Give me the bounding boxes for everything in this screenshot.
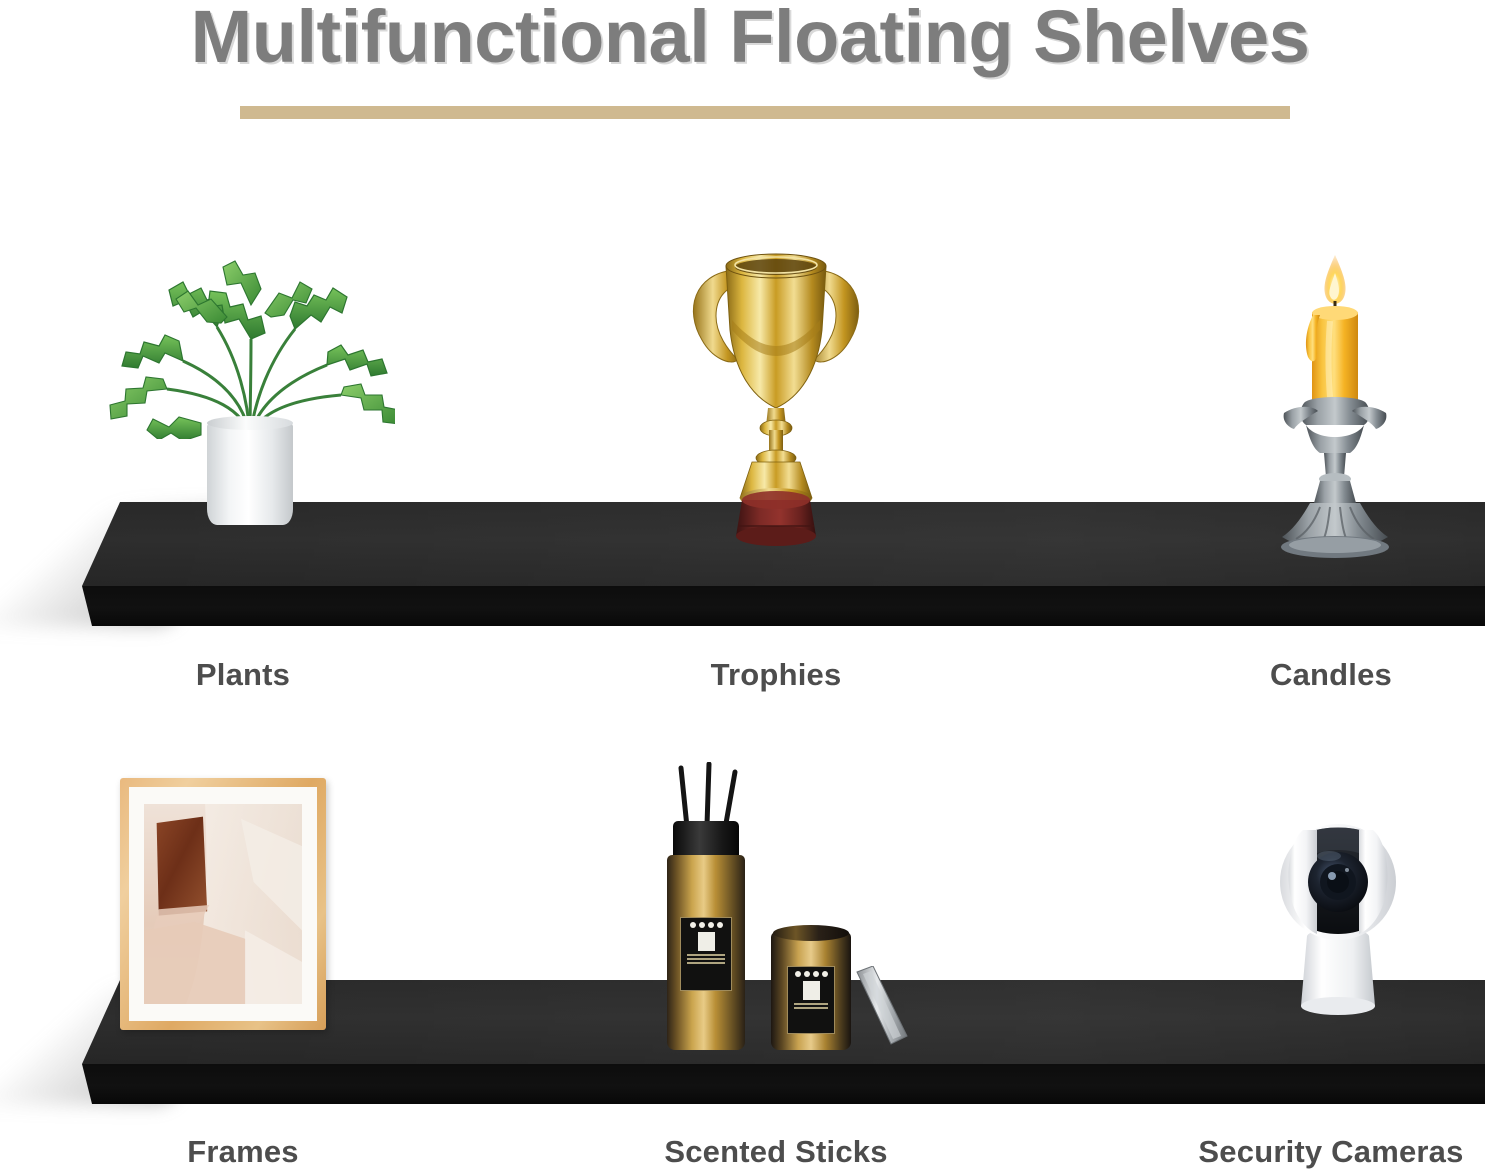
trophy-icon bbox=[676, 230, 876, 560]
reed-diffuser-bottle-icon bbox=[667, 855, 745, 1050]
trophy bbox=[672, 230, 880, 560]
shelf-label-plants: Plants bbox=[196, 657, 290, 693]
label-line-2 bbox=[794, 1007, 828, 1009]
security-camera bbox=[1258, 800, 1418, 1020]
shelf-label-candles: Candles bbox=[1270, 657, 1392, 693]
label-line-1 bbox=[687, 954, 725, 956]
wick-trimmer-icon bbox=[851, 966, 921, 1046]
shelf-label-security-cameras: Security Cameras bbox=[1198, 1134, 1463, 1170]
label-line-2 bbox=[687, 958, 725, 960]
picture-frame bbox=[120, 772, 332, 1030]
label-dots bbox=[681, 922, 731, 928]
security-camera-icon bbox=[1263, 810, 1413, 1020]
label-emblem bbox=[698, 932, 715, 951]
upper-shelf-front-face bbox=[82, 586, 1485, 626]
page-title: Multifunctional Floating Shelves bbox=[0, 0, 1500, 79]
candle-icon bbox=[1260, 245, 1410, 565]
candle-holder bbox=[1255, 245, 1415, 565]
shelf-label-trophies: Trophies bbox=[711, 657, 842, 693]
abstract-artwork bbox=[144, 804, 302, 1004]
plant-foliage-icon bbox=[105, 209, 395, 439]
label-line-1 bbox=[794, 1003, 828, 1005]
plant-pot-icon bbox=[207, 421, 293, 525]
label-dots bbox=[788, 971, 834, 977]
lower-shelf-front-face bbox=[82, 1064, 1485, 1104]
diffuser-product-label bbox=[680, 917, 732, 991]
picture-mat bbox=[129, 787, 317, 1021]
label-line-3 bbox=[687, 962, 725, 964]
potted-plant bbox=[105, 240, 395, 525]
shelf-label-frames: Frames bbox=[187, 1134, 299, 1170]
scented-sticks-set bbox=[655, 762, 915, 1050]
shelf-label-scented-sticks: Scented Sticks bbox=[664, 1134, 887, 1170]
label-emblem bbox=[803, 981, 820, 1000]
jar-rim bbox=[773, 925, 849, 941]
scented-candle-jar-icon bbox=[771, 932, 851, 1050]
picture-frame-icon bbox=[120, 778, 326, 1030]
title-underline-accent bbox=[240, 106, 1290, 119]
header: Multifunctional Floating Shelves bbox=[0, 0, 1500, 140]
jar-product-label bbox=[787, 966, 835, 1034]
